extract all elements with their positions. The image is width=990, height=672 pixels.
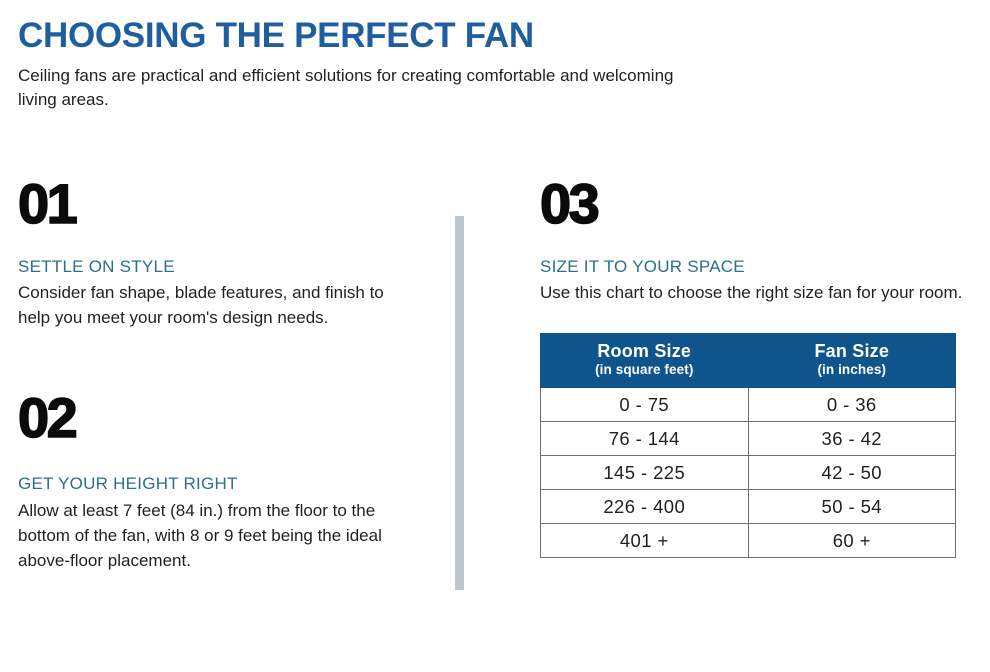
left-column: 01 SETTLE ON STYLE Consider fan shape, b… [18,178,418,573]
cell-room-size: 0 - 75 [541,388,749,422]
step-block-02: 02 GET YOUR HEIGHT RIGHT Allow at least … [18,392,418,573]
cell-fan-size: 0 - 36 [748,388,956,422]
step-number-01: 01 [18,178,418,230]
table-row: 226 - 400 50 - 54 [541,490,956,524]
cell-room-size: 145 - 225 [541,456,749,490]
step-text-01: SETTLE ON STYLE Consider fan shape, blad… [18,256,418,330]
table-row: 145 - 225 42 - 50 [541,456,956,490]
step-body-01: Consider fan shape, blade features, and … [18,280,418,330]
column-header-room-size: Room Size (in square feet) [541,333,749,387]
step-block-01: 01 SETTLE ON STYLE Consider fan shape, b… [18,178,418,330]
page-title: CHOOSING THE PERFECT FAN [18,18,718,55]
step-body-02: Allow at least 7 feet (84 in.) from the … [18,498,418,573]
column-header-room-size-main: Room Size [545,340,744,363]
column-header-room-size-sub: (in square feet) [545,362,744,379]
step-number-02: 02 [18,392,418,444]
step-block-03: 03 SIZE IT TO YOUR SPACE Use this chart … [540,178,975,305]
header: CHOOSING THE PERFECT FAN Ceiling fans ar… [18,18,718,113]
cell-fan-size: 36 - 42 [748,422,956,456]
step-heading-01: SETTLE ON STYLE [18,256,418,278]
step-body-03: Use this chart to choose the right size … [540,280,975,305]
column-header-fan-size: Fan Size (in inches) [748,333,956,387]
right-column: 03 SIZE IT TO YOUR SPACE Use this chart … [540,178,975,558]
cell-room-size: 76 - 144 [541,422,749,456]
cell-room-size: 226 - 400 [541,490,749,524]
cell-fan-size: 60 + [748,524,956,558]
step-text-03: SIZE IT TO YOUR SPACE Use this chart to … [540,256,975,305]
column-header-fan-size-sub: (in inches) [753,362,952,379]
cell-fan-size: 42 - 50 [748,456,956,490]
fan-size-table: Room Size (in square feet) Fan Size (in … [540,333,956,558]
table-row: 76 - 144 36 - 42 [541,422,956,456]
table-header-row: Room Size (in square feet) Fan Size (in … [541,333,956,387]
cell-fan-size: 50 - 54 [748,490,956,524]
cell-room-size: 401 + [541,524,749,558]
intro-paragraph: Ceiling fans are practical and efficient… [18,64,678,113]
column-divider [455,216,464,590]
step-number-03: 03 [540,178,975,230]
step-heading-02: GET YOUR HEIGHT RIGHT [18,473,418,495]
table-body: 0 - 75 0 - 36 76 - 144 36 - 42 145 - 225… [541,388,956,558]
infographic-page: CHOOSING THE PERFECT FAN Ceiling fans ar… [0,0,990,672]
step-text-02: GET YOUR HEIGHT RIGHT Allow at least 7 f… [18,473,418,573]
step-heading-03: SIZE IT TO YOUR SPACE [540,256,975,278]
column-header-fan-size-main: Fan Size [753,340,952,363]
table-row: 0 - 75 0 - 36 [541,388,956,422]
table-row: 401 + 60 + [541,524,956,558]
table-header: Room Size (in square feet) Fan Size (in … [541,333,956,387]
